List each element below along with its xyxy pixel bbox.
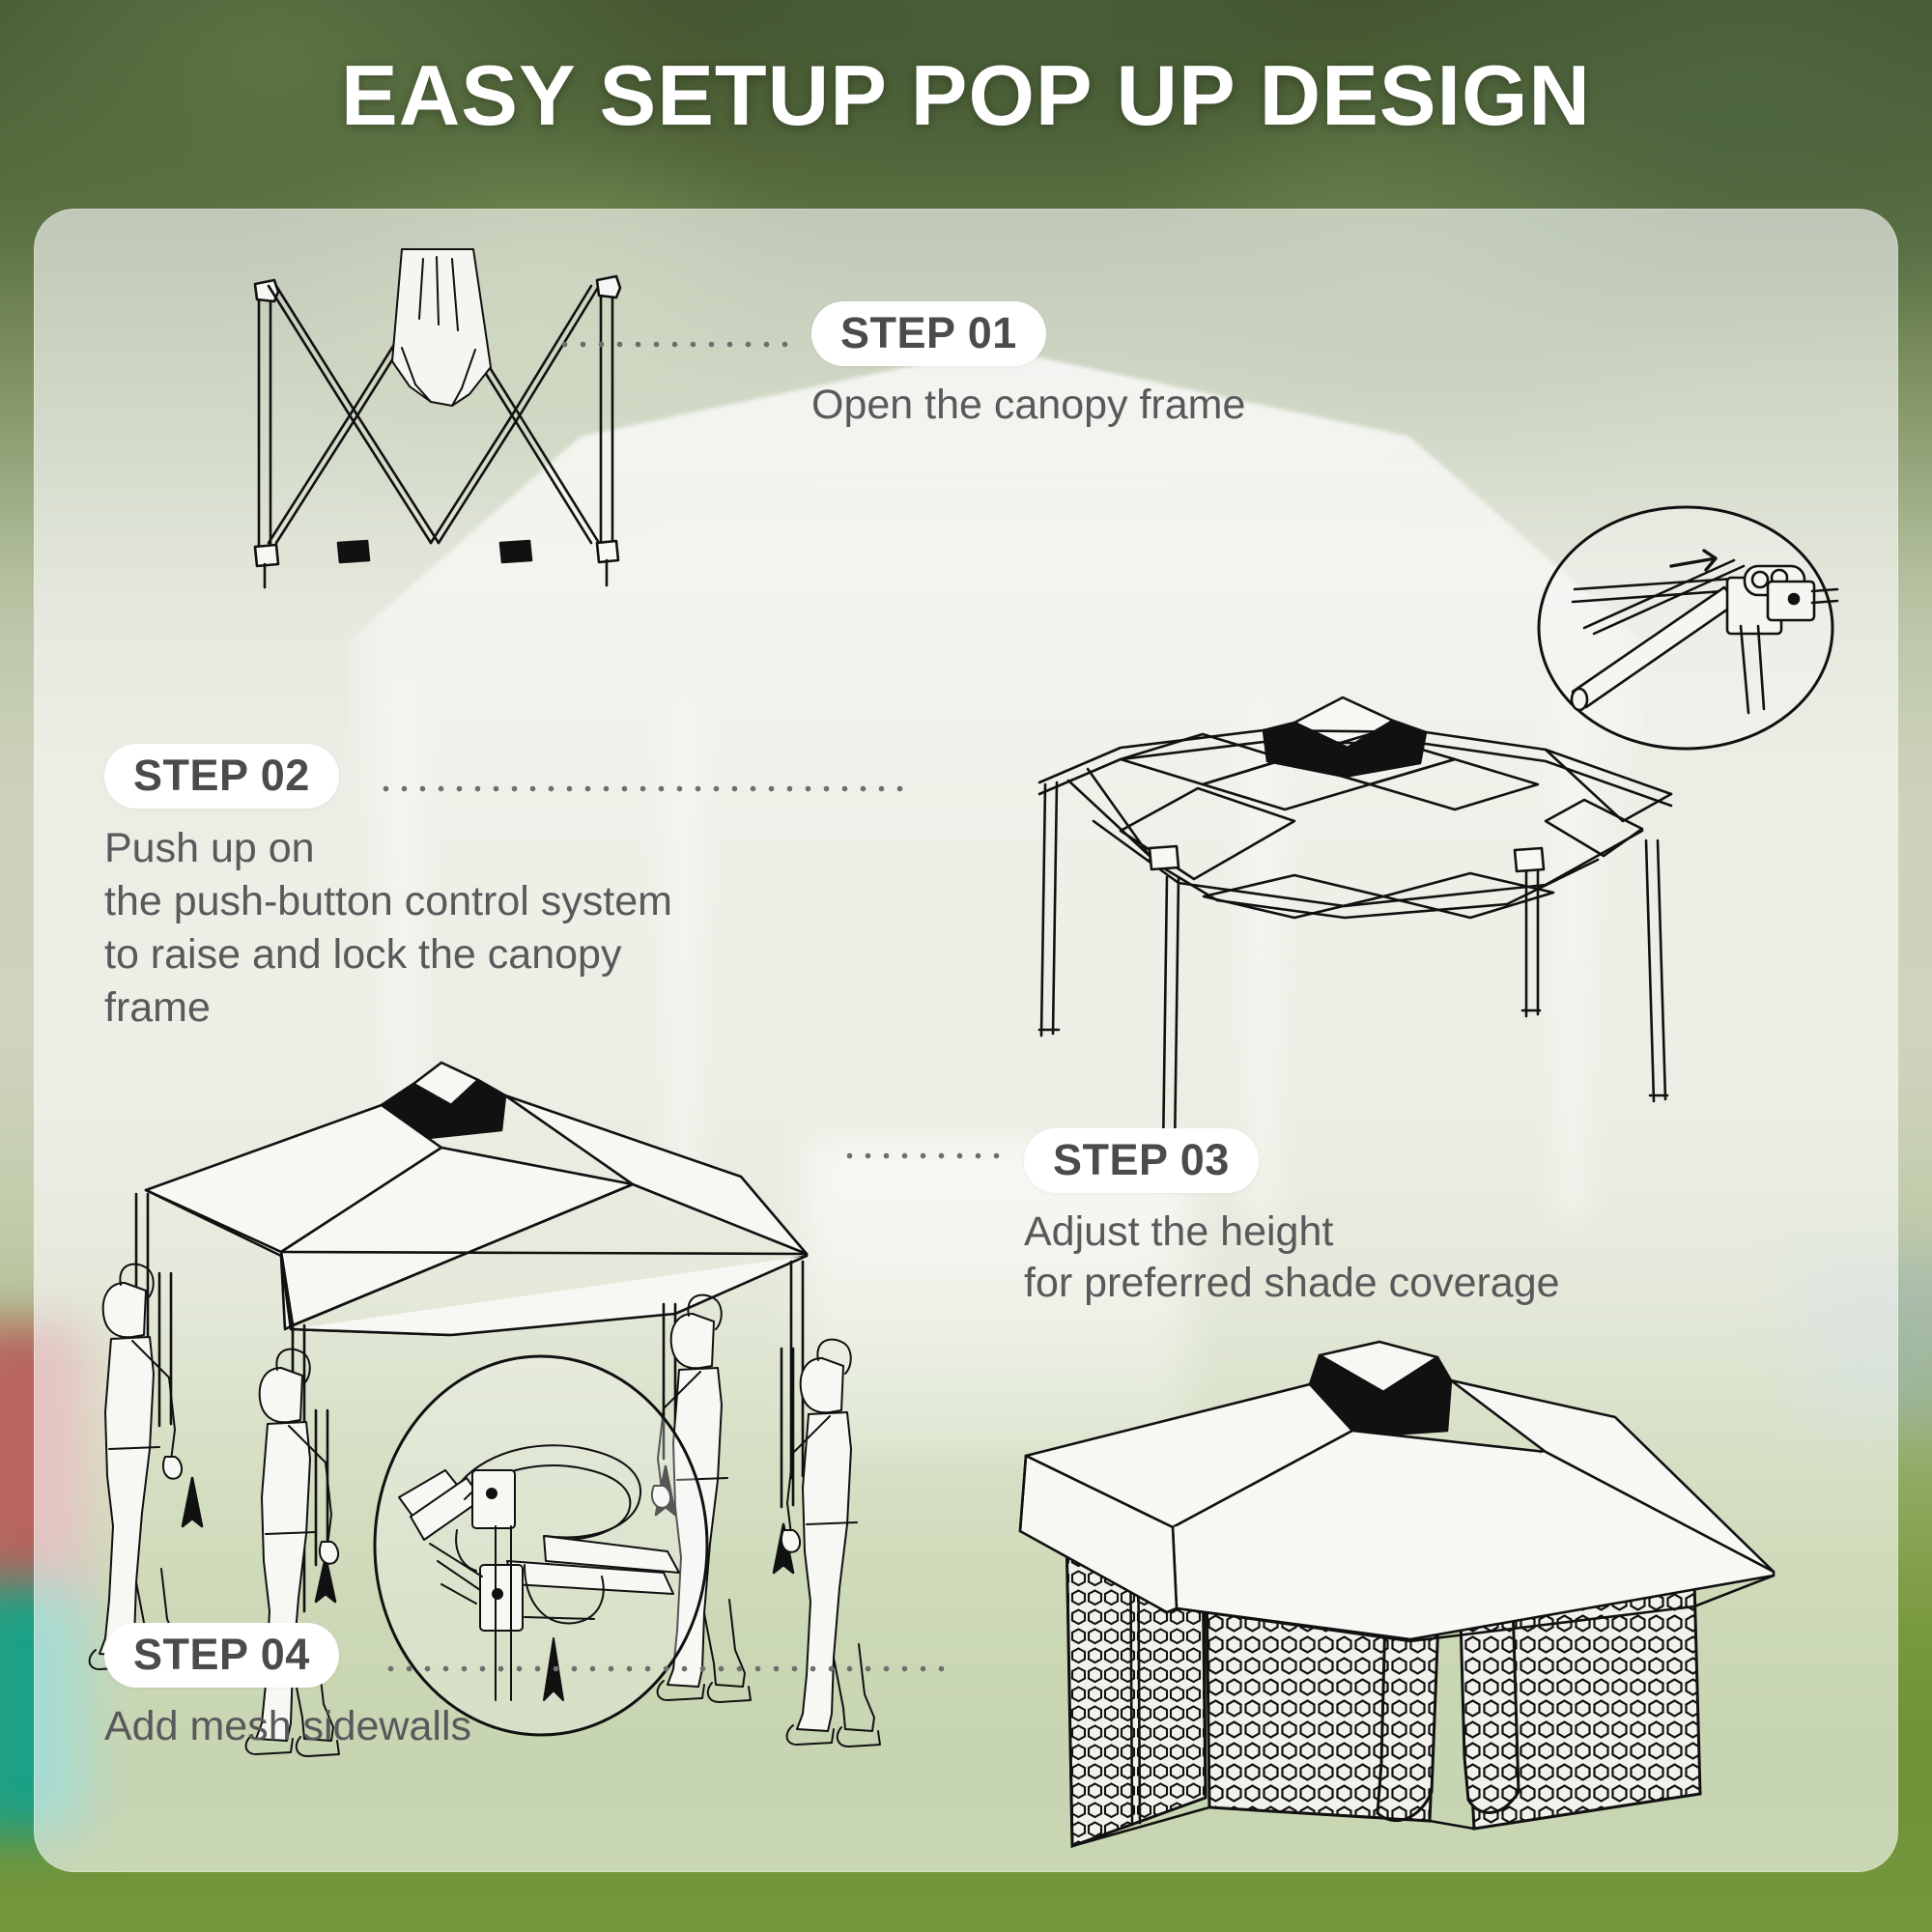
step-02-badge: STEP 02 <box>104 744 339 809</box>
step-02-illustration <box>1005 676 1710 1082</box>
page-title: EASY SETUP POP UP DESIGN <box>0 46 1932 145</box>
step-04-illustration <box>1005 1338 1835 1879</box>
step-02-connector-line <box>377 784 910 793</box>
step-04-description: Add mesh sidewalls <box>104 1701 471 1752</box>
step-01-illustration <box>232 241 638 628</box>
infographic-poster: EASY SETUP POP UP DESIGN <box>0 0 1932 1932</box>
step-04-badge: STEP 04 <box>104 1623 339 1688</box>
step-01: STEP 01 Open the canopy frame <box>811 301 1245 431</box>
step-01-description: Open the canopy frame <box>811 380 1245 431</box>
step-01-badge: STEP 01 <box>811 301 1046 366</box>
step-03-illustration <box>92 1024 894 1613</box>
step-04-connector-line <box>382 1664 952 1673</box>
step-04: STEP 04 Add mesh sidewalls <box>104 1623 471 1752</box>
step-03: STEP 03 Adjust the height for preferred … <box>1024 1128 1560 1310</box>
step-01-connector-line <box>555 340 792 349</box>
step-03-description: Adjust the height for preferred shade co… <box>1024 1207 1560 1310</box>
step-03-badge: STEP 03 <box>1024 1128 1259 1193</box>
step-02-description: Push up on the push-button control syste… <box>104 822 672 1035</box>
